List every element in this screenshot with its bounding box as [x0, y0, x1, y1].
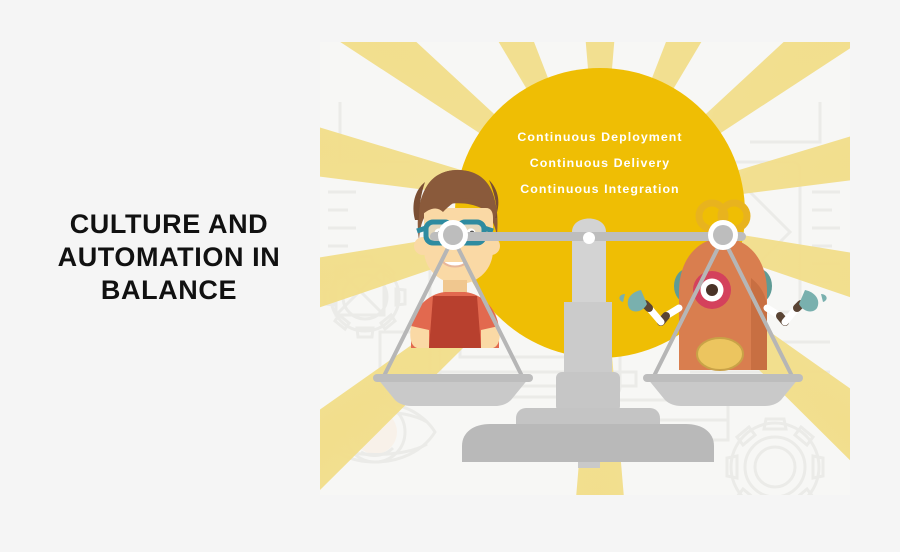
left-hanger-ring: [438, 220, 468, 250]
balance-scale: [320, 42, 850, 495]
right-pan-strings: [652, 238, 794, 380]
left-pan: [373, 374, 533, 406]
right-hanger-ring: [708, 220, 738, 250]
right-pan: [643, 374, 803, 406]
page-title: Culture and Automation in Balance: [28, 208, 310, 307]
pivot-dot: [583, 232, 595, 244]
scale-column: [462, 219, 714, 469]
screenshot-stage: Culture and Automation in Balance: [0, 0, 900, 552]
balance-scale-illustration: Continuous Deployment Continuous Deliver…: [320, 42, 850, 495]
left-pan-strings: [382, 238, 524, 380]
